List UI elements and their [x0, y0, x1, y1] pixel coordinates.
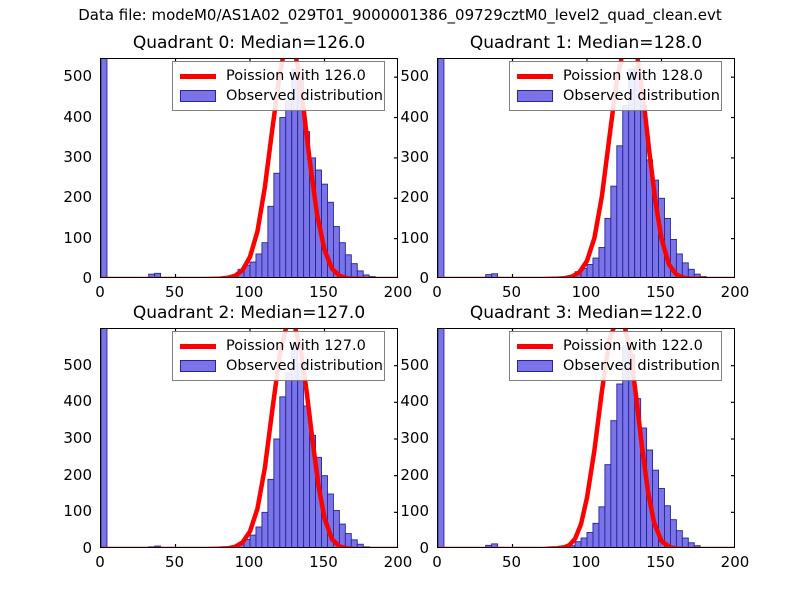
- x-tick-label: 50: [482, 553, 542, 571]
- histogram-bar: [599, 507, 605, 548]
- legend-quadrant-3[interactable]: Poission with 122.0Observed distribution: [509, 331, 722, 381]
- y-tick-label: 200: [375, 466, 429, 484]
- x-tick-label: 100: [556, 553, 616, 571]
- histogram-bar: [492, 544, 498, 548]
- subplot-title-quadrant-3: Quadrant 3: Median=122.0: [377, 303, 795, 323]
- x-tick-label: 150: [631, 553, 691, 571]
- y-tick-label: 400: [375, 392, 429, 410]
- legend-patch-swatch: [516, 359, 554, 373]
- figure-canvas: Data file: modeM0/AS1A02_029T01_90000013…: [0, 0, 800, 600]
- histogram-bar: [617, 384, 623, 548]
- histogram-bar: [605, 465, 611, 548]
- histogram-bar: [438, 329, 444, 548]
- x-tick-label: 0: [407, 553, 467, 571]
- histogram-bar: [593, 523, 599, 548]
- histogram-bar: [676, 531, 682, 548]
- legend-item-poisson: Poission with 122.0: [516, 336, 715, 356]
- histogram-bar: [587, 533, 593, 549]
- histogram-bar: [581, 538, 587, 548]
- y-tick-label: 100: [375, 502, 429, 520]
- histogram-bar: [688, 543, 694, 548]
- legend-label-observed: Observed distribution: [563, 358, 720, 374]
- histogram-bar: [670, 520, 676, 548]
- histogram-bar: [682, 538, 688, 548]
- x-tick-label: 200: [705, 553, 765, 571]
- y-tick-label: 300: [375, 429, 429, 447]
- histogram-bar: [611, 421, 617, 548]
- histogram-bar: [486, 545, 492, 548]
- histogram-bar: [575, 542, 581, 548]
- legend-label-poisson: Poission with 122.0: [563, 338, 703, 354]
- y-tick-label: 500: [375, 356, 429, 374]
- legend-line-swatch: [516, 339, 554, 353]
- legend-item-observed: Observed distribution: [516, 356, 715, 376]
- subplot-quadrant-3: Quadrant 3: Median=122.00100200300400500…: [0, 0, 800, 600]
